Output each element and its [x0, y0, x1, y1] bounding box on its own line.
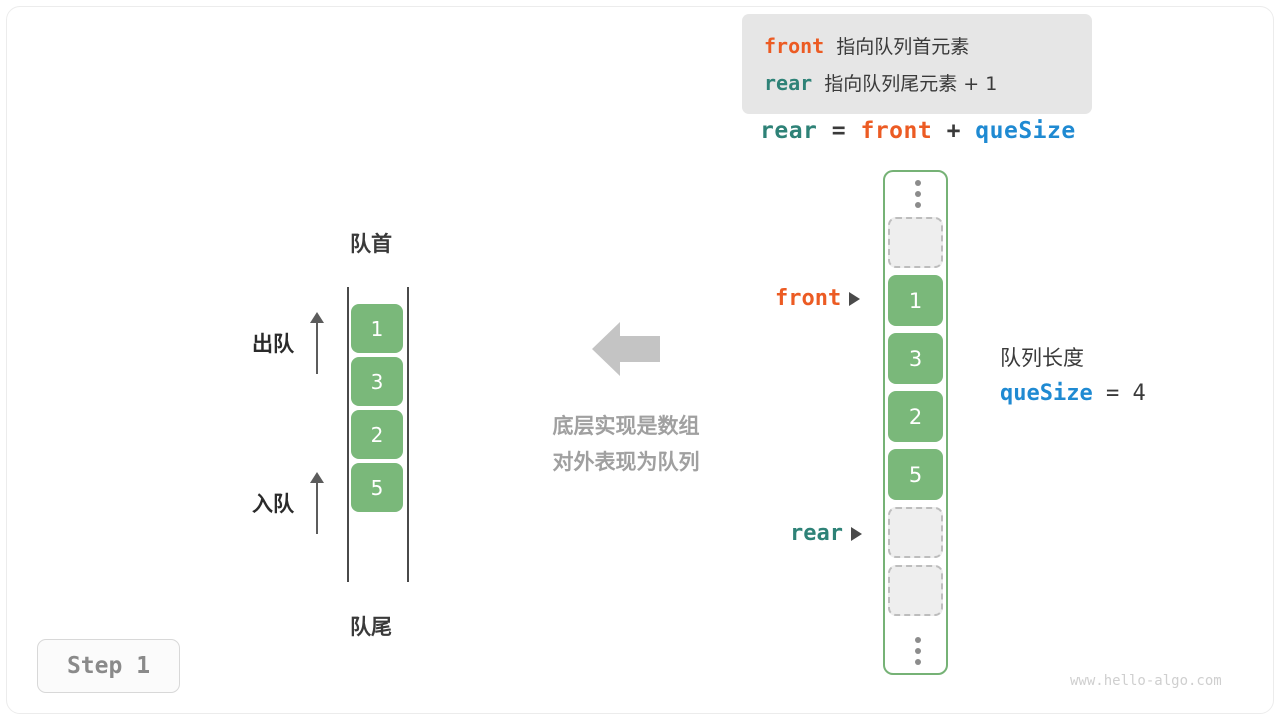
- queue-cell: 3: [351, 357, 403, 406]
- dequeue-operation: 出队: [252, 312, 324, 374]
- quesize-name: queSize: [1000, 381, 1093, 406]
- ellipsis-bottom-icon: [885, 631, 950, 671]
- array-cell-empty: [888, 507, 943, 558]
- queue-rail-left: [347, 287, 349, 582]
- array-cell-empty: [888, 217, 943, 268]
- quesize-title: 队列长度: [1000, 340, 1146, 376]
- center-note-line2: 对外表现为队列: [528, 444, 724, 480]
- arrow-left-icon: [592, 320, 660, 383]
- ellipsis-top-icon: [885, 174, 950, 214]
- legend-box: front 指向队列首元素 rear 指向队列尾元素 + 1: [742, 14, 1092, 114]
- watermark: www.hello-algo.com: [1070, 673, 1222, 689]
- queue-cell: 2: [351, 410, 403, 459]
- arrow-up-icon: [310, 472, 324, 534]
- legend-keyword-front: front: [764, 34, 824, 58]
- array-cell-filled: 5: [888, 449, 943, 500]
- queue-head-label: 队首: [350, 228, 392, 258]
- formula-plus-sign: +: [947, 118, 961, 144]
- array-cell-filled: 1: [888, 275, 943, 326]
- formula-rhs-front: front: [860, 118, 932, 144]
- queue-rail-right: [407, 287, 409, 582]
- arrow-up-icon: [310, 312, 324, 374]
- arrow-right-icon: [849, 292, 860, 306]
- dequeue-label: 出队: [252, 328, 294, 358]
- center-note: 底层实现是数组 对外表现为队列: [528, 408, 724, 480]
- enqueue-operation: 入队: [252, 472, 324, 534]
- legend-keyword-rear: rear: [764, 71, 812, 95]
- quesize-value: 4: [1132, 381, 1145, 406]
- queue-tail-label: 队尾: [350, 611, 392, 641]
- legend-text-front: 指向队列首元素: [836, 36, 969, 58]
- pointer-front: front: [775, 286, 860, 311]
- array-frame: 1 3 2 5: [883, 170, 948, 675]
- pointer-front-label: front: [775, 286, 841, 311]
- legend-line-front: front 指向队列首元素: [764, 28, 1092, 65]
- formula-lhs-rear: rear: [760, 118, 817, 144]
- legend-line-rear: rear 指向队列尾元素 + 1: [764, 65, 1092, 102]
- diagram-canvas: front 指向队列首元素 rear 指向队列尾元素 + 1 rear = fr…: [0, 0, 1280, 720]
- array-cell-filled: 3: [888, 333, 943, 384]
- arrow-right-icon: [851, 527, 862, 541]
- pointer-rear: rear: [790, 521, 862, 546]
- queue-cell: 5: [351, 463, 403, 512]
- quesize-note: 队列长度 queSize = 4: [1000, 340, 1146, 412]
- enqueue-label: 入队: [252, 488, 294, 518]
- array-cell-filled: 2: [888, 391, 943, 442]
- formula-rhs-quesize: queSize: [975, 118, 1075, 144]
- formula-rear-equals: rear = front + queSize: [760, 118, 1076, 144]
- quesize-expression: queSize = 4: [1000, 376, 1146, 412]
- center-note-line1: 底层实现是数组: [528, 408, 724, 444]
- queue-cell: 1: [351, 304, 403, 353]
- array-cell-empty: [888, 565, 943, 616]
- step-badge: Step 1: [37, 639, 180, 693]
- legend-text-rear: 指向队列尾元素 + 1: [824, 73, 997, 95]
- quesize-equals: =: [1106, 381, 1119, 406]
- formula-equals-sign: =: [832, 118, 846, 144]
- pointer-rear-label: rear: [790, 521, 843, 546]
